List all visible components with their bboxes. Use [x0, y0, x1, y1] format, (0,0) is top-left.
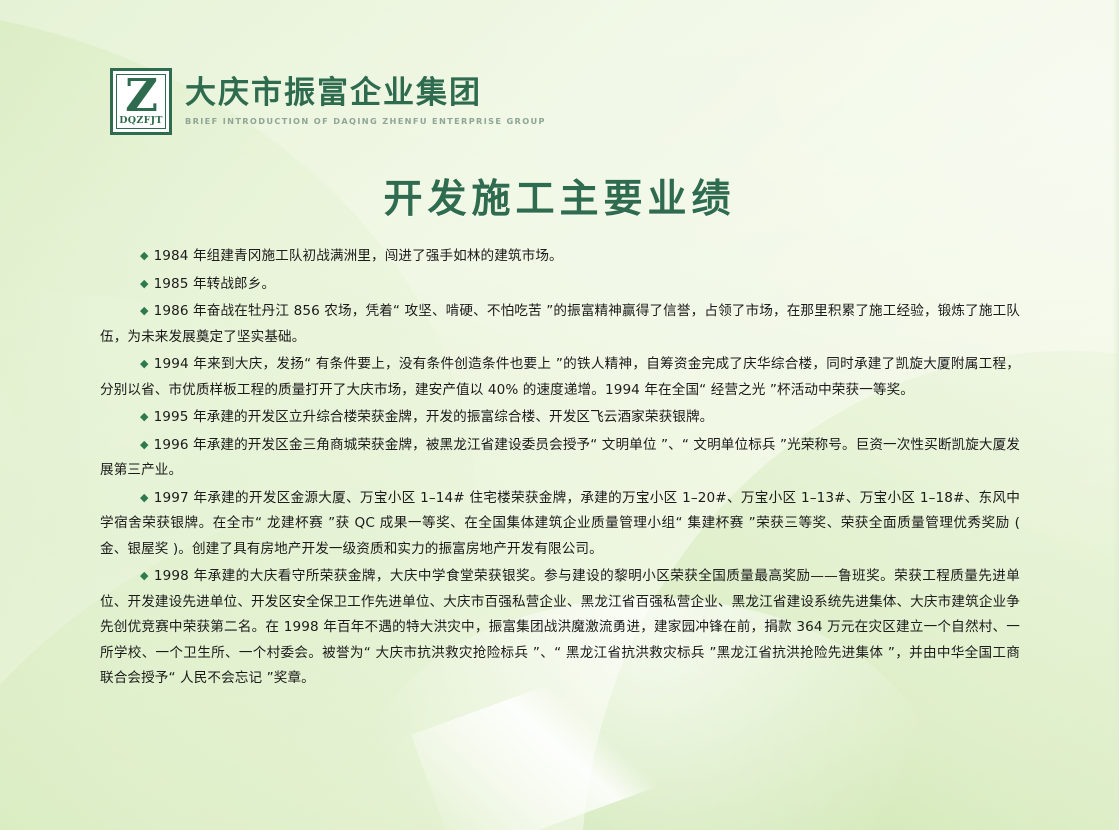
company-logo-icon: Z DQZFJT: [110, 68, 172, 135]
paragraph: ◆1997 年承建的开发区金源大厦、万宝小区 1–14# 住宅楼荣获金牌，承建的…: [100, 485, 1020, 563]
paragraph: ◆1996 年承建的开发区金三角商城荣获金牌，被黑龙江省建设委员会授予“ 文明单…: [100, 432, 1020, 484]
paragraph: ◆1985 年转战郎乡。: [100, 271, 1020, 298]
logo-inner-frame: Z DQZFJT: [116, 74, 166, 129]
logo-abbreviation: DQZFJT: [119, 115, 163, 126]
paragraph: ◆1994 年来到大庆，发扬“ 有条件要上，没有条件创造条件也要上 ”的铁人精神…: [100, 351, 1020, 403]
page-title: 开发施工主要业绩: [0, 168, 1119, 224]
paragraph: ◆1984 年组建青冈施工队初战满洲里，闯进了强手如林的建筑市场。: [100, 243, 1020, 270]
brand-header: Z DQZFJT 大庆市振富企业集团 BRIEF INTRODUCTION OF…: [110, 68, 546, 135]
paragraph: ◆1998 年承建的大庆看守所荣获金牌，大庆中学食堂荣获银奖。参与建设的黎明小区…: [100, 563, 1020, 692]
bullet-icon: ◆: [140, 569, 149, 582]
paragraph-text: 1985 年转战郎乡。: [154, 276, 276, 292]
bullet-icon: ◆: [140, 438, 149, 451]
bullet-icon: ◆: [140, 410, 149, 423]
bullet-icon: ◆: [140, 304, 149, 317]
paragraph-text: 1986 年奋战在牡丹江 856 农场，凭着“ 攻坚、啃硬、不怕吃苦 ”的振富精…: [100, 303, 1020, 345]
bullet-icon: ◆: [140, 491, 149, 504]
body-content: ◆1984 年组建青冈施工队初战满洲里，闯进了强手如林的建筑市场。 ◆1985 …: [100, 243, 1020, 693]
paragraph-text: 1996 年承建的开发区金三角商城荣获金牌，被黑龙江省建设委员会授予“ 文明单位…: [100, 437, 1020, 479]
company-name-en: BRIEF INTRODUCTION OF DAQING ZHENFU ENTE…: [185, 116, 546, 126]
paragraph: ◆1995 年承建的开发区立升综合楼荣获金牌，开发的振富综合楼、开发区飞云酒家荣…: [100, 404, 1020, 431]
bullet-icon: ◆: [140, 249, 149, 262]
paragraph-text: 1984 年组建青冈施工队初战满洲里，闯进了强手如林的建筑市场。: [154, 248, 563, 264]
bullet-icon: ◆: [140, 277, 149, 290]
right-edge-shadow: [1113, 0, 1119, 830]
presentation-slide: Z DQZFJT 大庆市振富企业集团 BRIEF INTRODUCTION OF…: [0, 0, 1119, 830]
paragraph-text: 1998 年承建的大庆看守所荣获金牌，大庆中学食堂荣获银奖。参与建设的黎明小区荣…: [100, 568, 1020, 686]
paragraph-text: 1995 年承建的开发区立升综合楼荣获金牌，开发的振富综合楼、开发区飞云酒家荣获…: [154, 409, 714, 425]
paragraph-text: 1997 年承建的开发区金源大厦、万宝小区 1–14# 住宅楼荣获金牌，承建的万…: [100, 490, 1020, 557]
paragraph-text: 1994 年来到大庆，发扬“ 有条件要上，没有条件创造条件也要上 ”的铁人精神，…: [100, 356, 1020, 398]
company-name-cn: 大庆市振富企业集团: [185, 73, 546, 113]
bullet-icon: ◆: [140, 357, 149, 370]
logo-letter: Z: [125, 76, 157, 116]
paragraph: ◆1986 年奋战在牡丹江 856 农场，凭着“ 攻坚、啃硬、不怕吃苦 ”的振富…: [100, 298, 1020, 350]
brand-text-block: 大庆市振富企业集团 BRIEF INTRODUCTION OF DAQING Z…: [185, 68, 546, 126]
